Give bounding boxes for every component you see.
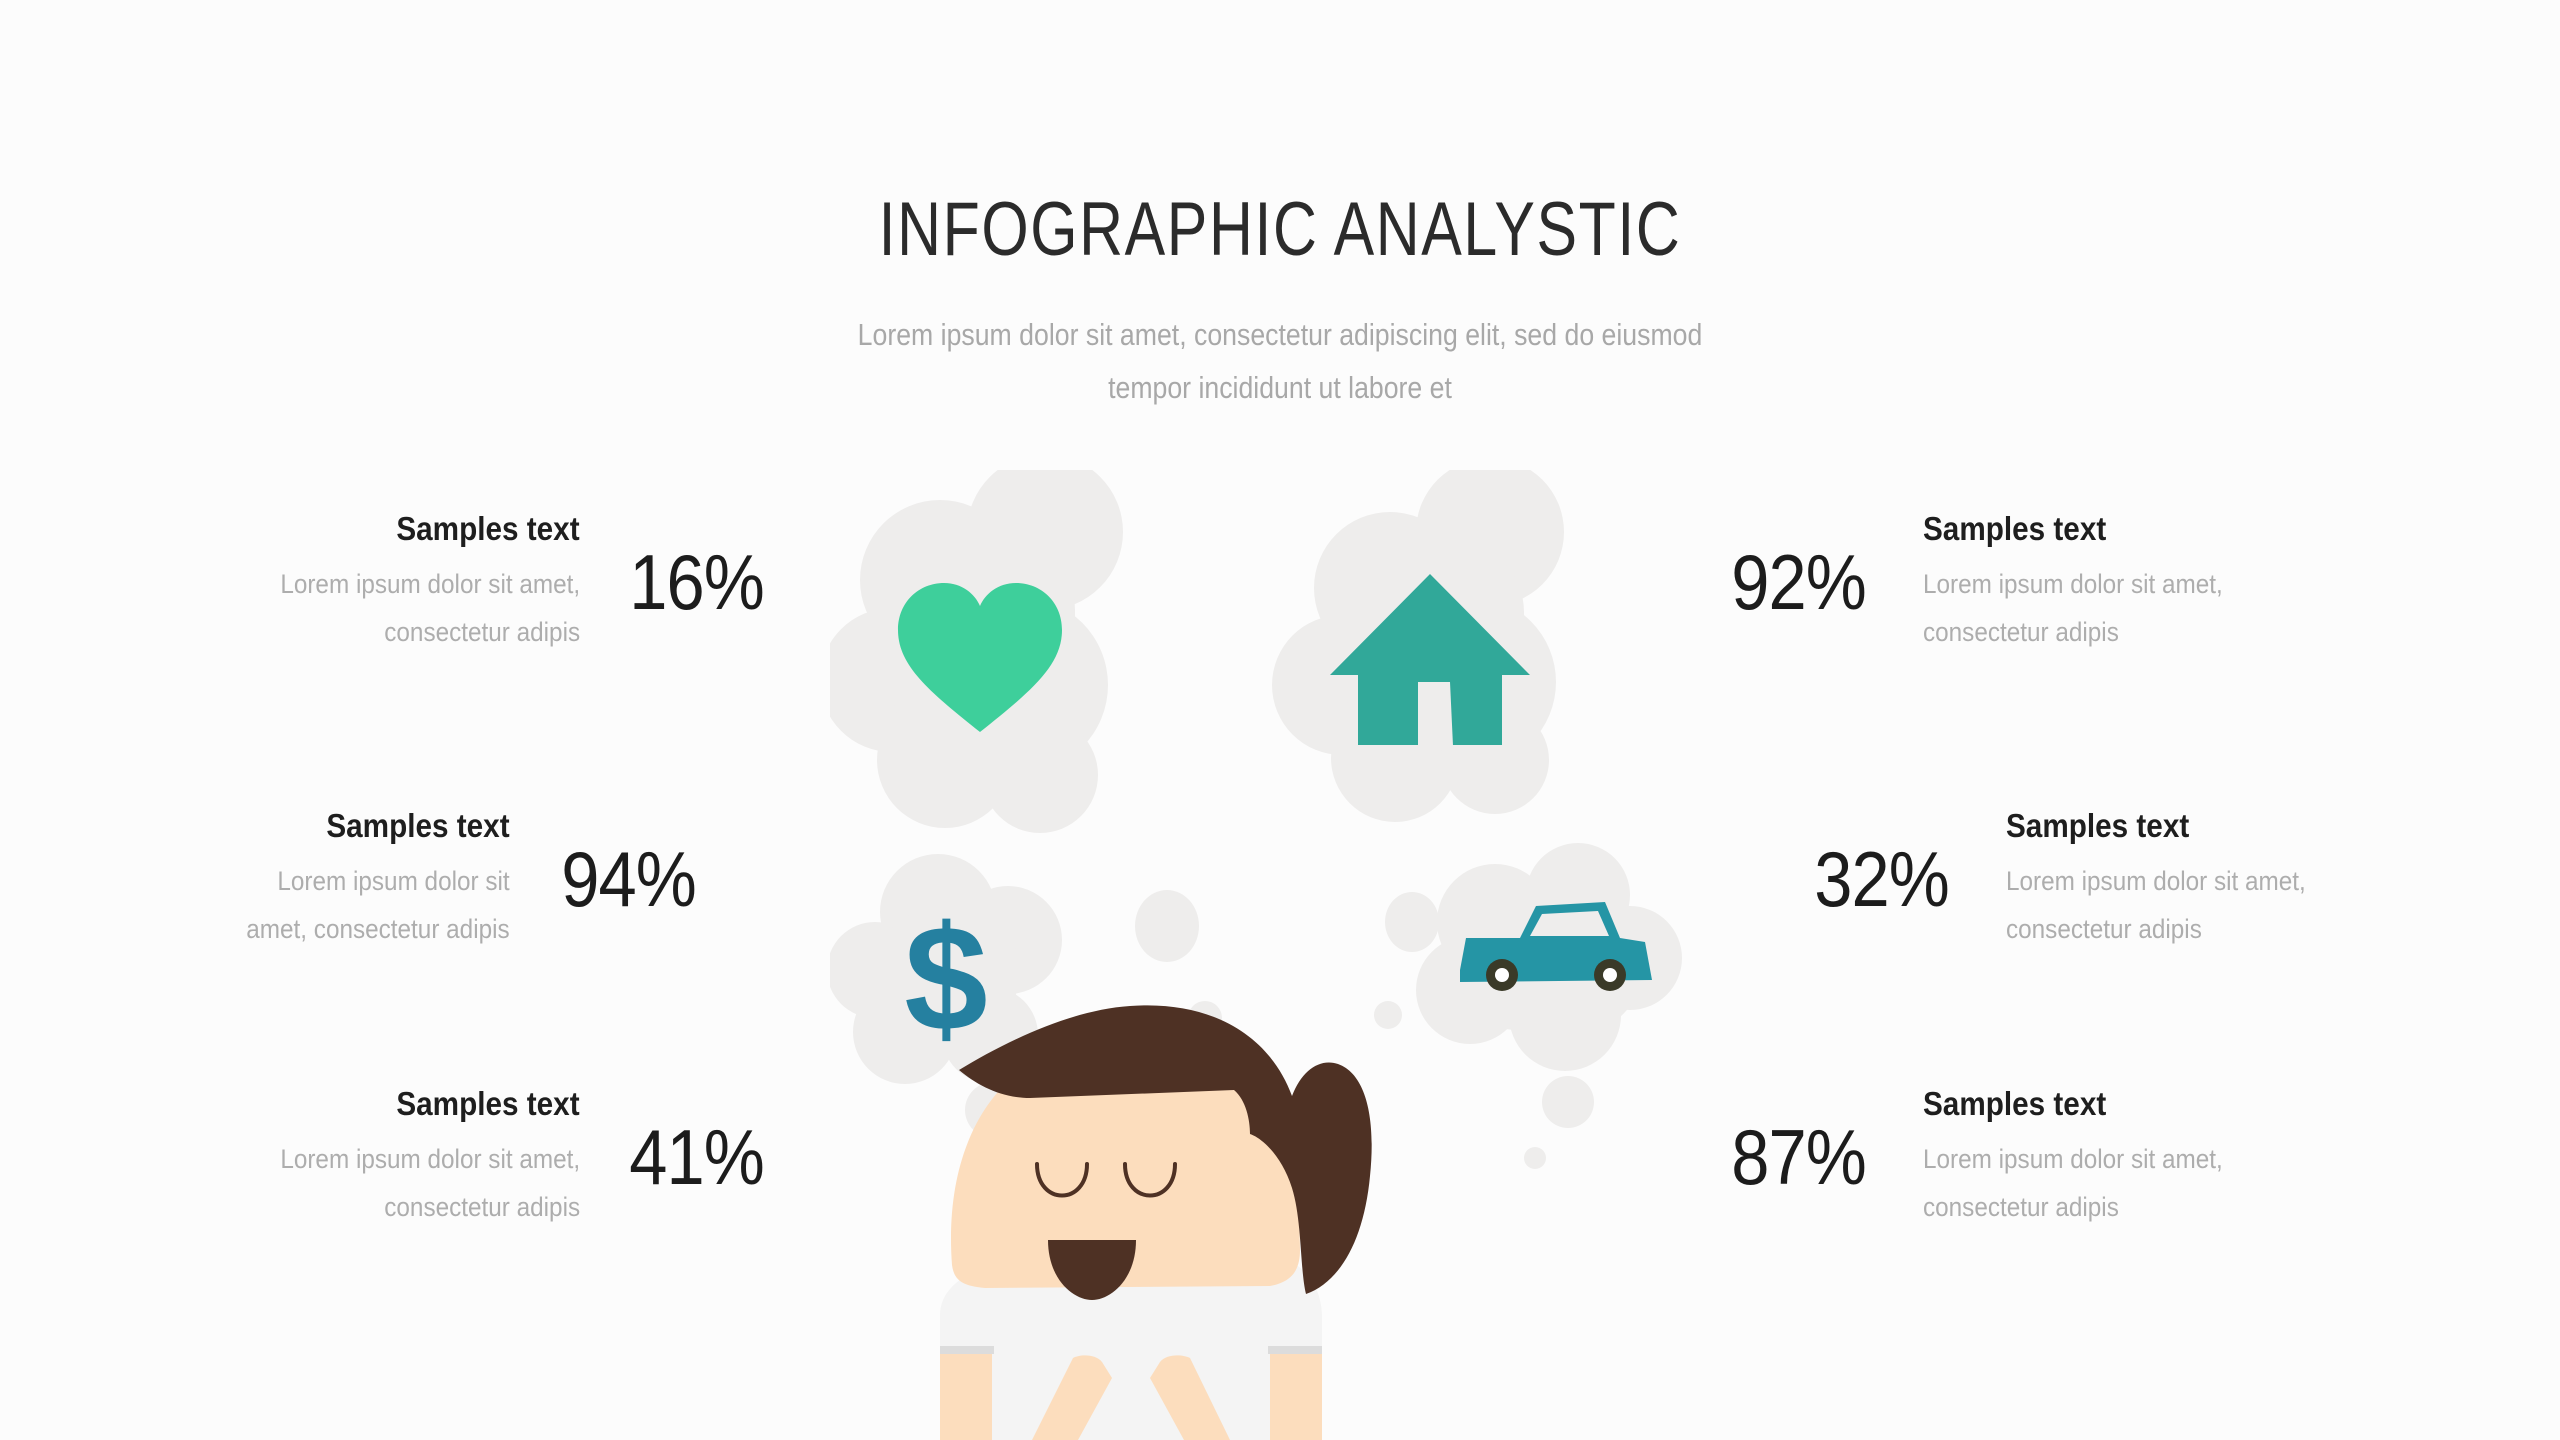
stat-percent: 16% [629,543,764,621]
stat-text-block: Samples text Lorem ipsum dolor sit amet,… [2006,805,2339,953]
thought-bubble-heart[interactable] [830,470,1123,833]
stat-description-line-1: Lorem ipsum dolor sit amet, [2006,858,2306,905]
stat-item-right-1[interactable]: 92% Samples text Lorem ipsum dolor sit a… [1722,508,2256,656]
stat-description-line-2: consectetur adipis [280,609,580,656]
header: INFOGRAPHIC ANALYSTIC Lorem ipsum dolor … [0,190,2560,414]
stat-description-line-2: consectetur adipis [1923,1184,2223,1231]
house-door-cutout [1418,682,1453,746]
stat-description: Lorem ipsum dolor sit amet, consectetur … [280,561,580,656]
dollar-icon: $ [904,894,987,1062]
stat-description-line-2: consectetur adipis [2006,906,2306,953]
stat-item-left-3[interactable]: Samples text Lorem ipsum dolor sit amet,… [150,1083,840,1231]
stat-text-block: Samples text Lorem ipsum dolor sit amet,… [150,1083,580,1231]
stat-heading: Samples text [327,805,510,846]
stat-percent: 41% [629,1118,764,1196]
car-window-cutout [1530,911,1609,936]
stat-text-block: Samples text Lorem ipsum dolor sit amet,… [110,805,510,953]
stat-description: Lorem ipsum dolor sit amet, consectetur … [2006,858,2306,953]
stat-item-left-1[interactable]: Samples text Lorem ipsum dolor sit amet,… [150,508,840,656]
stat-text-block: Samples text Lorem ipsum dolor sit amet,… [150,508,580,656]
subtitle-line-1: Lorem ipsum dolor sit amet, consectetur … [179,308,2381,361]
stat-description-line-1: Lorem ipsum dolor sit [247,858,510,905]
stat-item-right-3[interactable]: 87% Samples text Lorem ipsum dolor sit a… [1722,1083,2256,1231]
character-right-sleeve-edge [1268,1346,1322,1354]
stat-description: Lorem ipsum dolor sit amet, consectetur … [1923,561,2223,656]
stat-text-block: Samples text Lorem ipsum dolor sit amet,… [1923,1083,2256,1231]
character-left-sleeve-edge [940,1346,994,1354]
stat-item-left-2[interactable]: Samples text Lorem ipsum dolor sit amet,… [110,805,810,953]
page-subtitle: Lorem ipsum dolor sit amet, consectetur … [179,308,2381,415]
stat-heading: Samples text [1923,1083,2106,1124]
stat-heading: Samples text [397,1083,580,1124]
stat-description: Lorem ipsum dolor sit amet, consectetur … [1923,1136,2223,1231]
stat-item-right-2[interactable]: 32% Samples text Lorem ipsum dolor sit a… [1805,805,2339,953]
stat-description-line-1: Lorem ipsum dolor sit amet, [280,1136,580,1183]
stat-heading: Samples text [2006,805,2189,846]
stat-percent: 87% [1731,1118,1866,1196]
stat-description-line-2: amet, consectetur adipis [247,906,510,953]
stat-description-line-1: Lorem ipsum dolor sit amet, [280,561,580,608]
character-ear [1224,1154,1276,1206]
character-right-arm [1270,1350,1322,1440]
stat-description-line-2: consectetur adipis [280,1184,580,1231]
stat-description-line-1: Lorem ipsum dolor sit amet, [1923,561,2223,608]
thought-bubble-house[interactable] [1272,470,1564,822]
stat-heading: Samples text [397,508,580,549]
character [940,1005,1372,1440]
page-title: INFOGRAPHIC ANALYSTIC [256,190,2304,270]
stat-text-block: Samples text Lorem ipsum dolor sit amet,… [1923,508,2256,656]
infographic-slide: INFOGRAPHIC ANALYSTIC Lorem ipsum dolor … [0,0,2560,1440]
character-left-arm [940,1350,992,1440]
stat-percent: 32% [1814,840,1949,918]
stat-description-line-1: Lorem ipsum dolor sit amet, [1923,1136,2223,1183]
stat-percent: 94% [561,840,696,918]
subtitle-line-2: tempor incididunt ut labore et [179,361,2381,414]
thought-bubble-car[interactable] [1416,843,1682,1071]
stat-description: Lorem ipsum dolor sit amet, consectetur … [247,858,510,953]
thinking-person-illustration: $ [830,470,1730,1440]
stat-heading: Samples text [1923,508,2106,549]
stat-description-line-2: consectetur adipis [1923,609,2223,656]
stat-percent: 92% [1731,543,1866,621]
stat-description: Lorem ipsum dolor sit amet, consectetur … [280,1136,580,1231]
